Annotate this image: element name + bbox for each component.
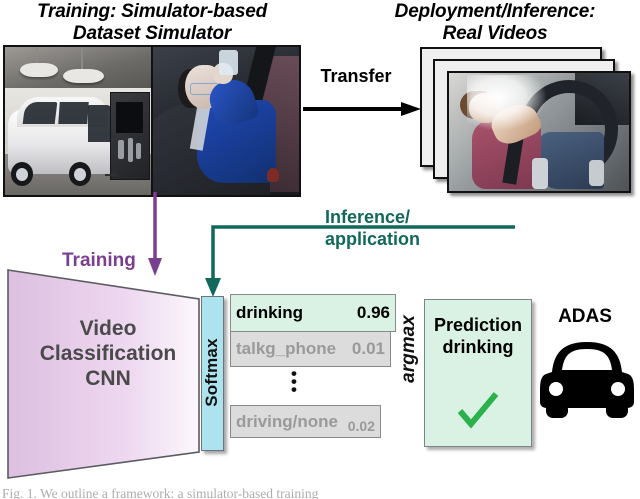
inference-application-label: Inference/ application — [325, 206, 505, 250]
ceiling-lamp — [20, 63, 58, 76]
title-deployment-inference: Deployment/Inference: Real Videos — [352, 1, 638, 45]
inference-label-line1: Inference/ — [325, 206, 505, 228]
title-deployment-line1: Deployment/Inference: — [352, 1, 638, 23]
vertical-ellipsis-icon: ••• — [284, 370, 304, 394]
car-window — [58, 102, 89, 124]
transfer-label: Transfer — [308, 66, 404, 87]
rig-cable — [105, 174, 116, 176]
cup-holder-cup — [267, 168, 279, 181]
figure-caption: Fig. 1. We outline a framework: a simula… — [2, 486, 638, 499]
gear-lever — [532, 158, 548, 189]
front-car-icon — [538, 332, 636, 422]
drink-bottle — [219, 50, 238, 75]
car-window — [23, 102, 58, 124]
lab-car-photo — [5, 47, 153, 195]
transfer-arrow-icon — [303, 101, 421, 117]
score-row-value: 0.96 — [357, 303, 390, 323]
rig-knob — [136, 143, 141, 158]
cnn-label-line3: CNN — [20, 366, 196, 391]
simulated-driver-drinking-photo — [153, 47, 299, 195]
real-video-content — [449, 73, 629, 191]
class-score-table: drinking 0.96 talkg_phone 0.01 ••• drivi… — [230, 294, 396, 454]
wheel-hub — [16, 168, 28, 181]
table-row: drinking 0.96 — [230, 294, 396, 332]
score-row-class: talkg_phone — [236, 339, 336, 359]
score-row-value: 0.01 — [352, 339, 385, 359]
lamp-stem — [81, 47, 83, 71]
wheel-hub — [74, 168, 86, 181]
gear-lever — [589, 160, 603, 186]
score-row-class: driving/none — [236, 412, 338, 432]
cnn-label-line1: Video — [20, 316, 196, 341]
prediction-text: Prediction drinking — [425, 314, 531, 358]
camera-rig — [110, 92, 150, 180]
title-training-line2: Dataset Simulator — [2, 23, 302, 45]
score-row-class: drinking — [236, 303, 303, 323]
prediction-value: drinking — [425, 336, 531, 358]
title-training-line1: Training: Simulator-based — [2, 1, 302, 23]
argmax-label: argmax — [398, 294, 420, 404]
rig-knob — [118, 140, 124, 159]
green-check-icon — [457, 392, 499, 430]
real-driver-drinking-photo — [447, 71, 631, 193]
figure-canvas: Training: Simulator-based Dataset Simula… — [0, 0, 640, 499]
title-deployment-line2: Real Videos — [352, 23, 638, 45]
real-video-stack — [420, 47, 630, 195]
cnn-label-line2: Classification — [20, 341, 196, 366]
title-training-simulator: Training: Simulator-based Dataset Simula… — [2, 1, 302, 45]
ceiling-lamp — [63, 69, 104, 82]
table-row: driving/none 0.02 — [230, 405, 381, 438]
car-wheel — [11, 162, 33, 186]
sun-glare — [467, 75, 546, 129]
softmax-label: Softmax — [201, 296, 222, 449]
inference-label-line2: application — [325, 228, 505, 250]
rig-screen — [116, 102, 143, 133]
prediction-title: Prediction — [425, 314, 531, 336]
lamp-stem — [36, 47, 38, 65]
simulator-dataset-panel — [3, 45, 301, 197]
adas-label: ADAS — [540, 306, 630, 328]
prediction-box: Prediction drinking — [424, 299, 532, 447]
rig-knob — [128, 138, 133, 162]
cnn-label: Video Classification CNN — [20, 316, 196, 391]
score-row-value: 0.02 — [348, 418, 375, 437]
table-row: talkg_phone 0.01 — [230, 331, 391, 367]
